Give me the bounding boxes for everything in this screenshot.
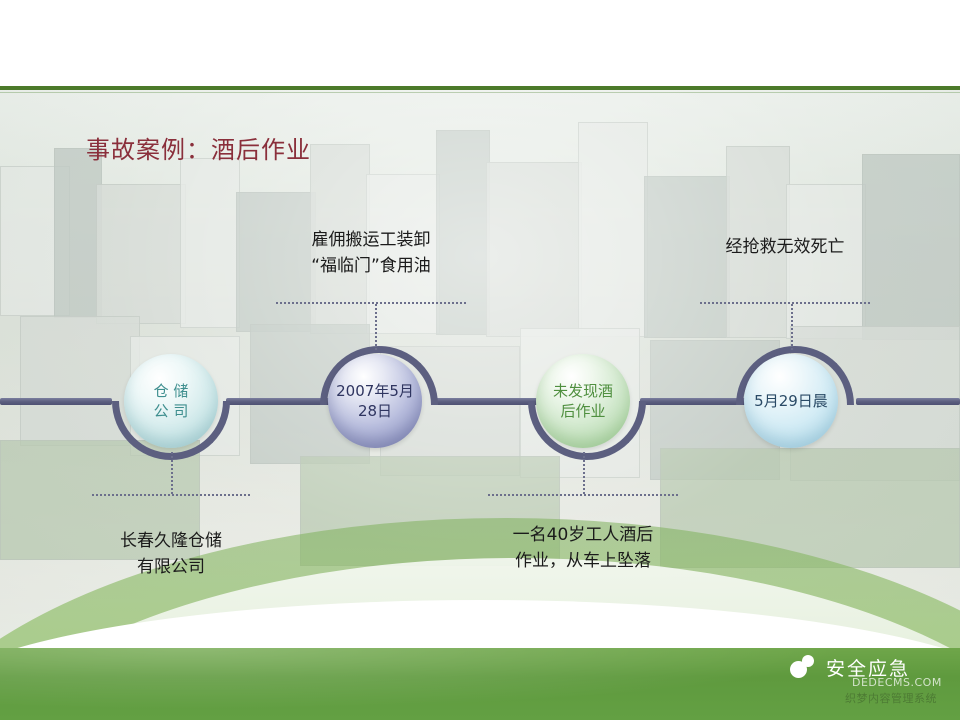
- callout-3-connector-horizontal: [488, 494, 678, 496]
- callout-2-connector-horizontal: [276, 302, 466, 304]
- brand-dot-small: [802, 655, 814, 667]
- timeline-node-1-label-line2: 公 司: [148, 401, 195, 421]
- callout-2-line1: 雇佣搬运工装卸: [276, 227, 466, 253]
- header-rule: [0, 86, 960, 90]
- callout-3-line1: 一名40岁工人酒后: [488, 522, 678, 548]
- timeline-segment: [856, 398, 960, 405]
- callout-1-line2: 有限公司: [92, 554, 250, 580]
- timeline-node-3[interactable]: 未发现酒 后作业: [536, 354, 630, 448]
- callout-2-connector-vertical: [375, 304, 377, 350]
- callout-1: 长春久隆仓储 有限公司: [92, 528, 250, 581]
- timeline-node-3-label-line1: 未发现酒: [547, 381, 619, 401]
- header-rule-thin: [0, 92, 960, 93]
- timeline-node-2-label-line1: 2007年5月: [330, 381, 420, 401]
- timeline-node-1[interactable]: 仓 储 公 司: [124, 354, 218, 448]
- watermark-chinese: 织梦内容管理系统: [845, 690, 937, 706]
- callout-1-line1: 长春久隆仓储: [92, 528, 250, 554]
- callout-3: 一名40岁工人酒后 作业，从车上坠落: [488, 522, 678, 575]
- callout-4-line1: 经抢救无效死亡: [700, 234, 870, 260]
- callout-1-connector-horizontal: [92, 494, 250, 496]
- callout-1-connector-vertical: [171, 452, 173, 494]
- timeline-node-3-label-line2: 后作业: [547, 401, 619, 421]
- timeline-node-4[interactable]: 5月29日晨: [744, 354, 838, 448]
- watermark-dedecms: DEDECMS.COM: [852, 676, 942, 689]
- timeline-segment: [640, 398, 748, 405]
- timeline-node-4-label-line1: 5月29日晨: [748, 391, 834, 411]
- timeline-node-2[interactable]: 2007年5月 28日: [328, 354, 422, 448]
- slide-root: 事故案例：酒后作业 仓 储 公 司 2007年5月 28日 未发现酒 后作业 5…: [0, 0, 960, 720]
- callout-2: 雇佣搬运工装卸 “福临门”食用油: [276, 227, 466, 280]
- timeline-segment: [0, 398, 112, 405]
- callout-4: 经抢救无效死亡: [700, 234, 870, 260]
- page-title: 事故案例：酒后作业: [86, 130, 311, 165]
- callout-4-connector-horizontal: [700, 302, 870, 304]
- timeline-node-1-label-line1: 仓 储: [148, 381, 195, 401]
- callout-3-connector-vertical: [583, 452, 585, 494]
- timeline-segment: [226, 398, 330, 405]
- callout-3-line2: 作业，从车上坠落: [488, 548, 678, 574]
- callout-2-line2: “福临门”食用油: [276, 253, 466, 279]
- brand-dots-icon: [790, 655, 816, 681]
- timeline-segment: [434, 398, 540, 405]
- callout-4-connector-vertical: [791, 304, 793, 350]
- timeline-node-2-label-line2: 28日: [330, 401, 420, 421]
